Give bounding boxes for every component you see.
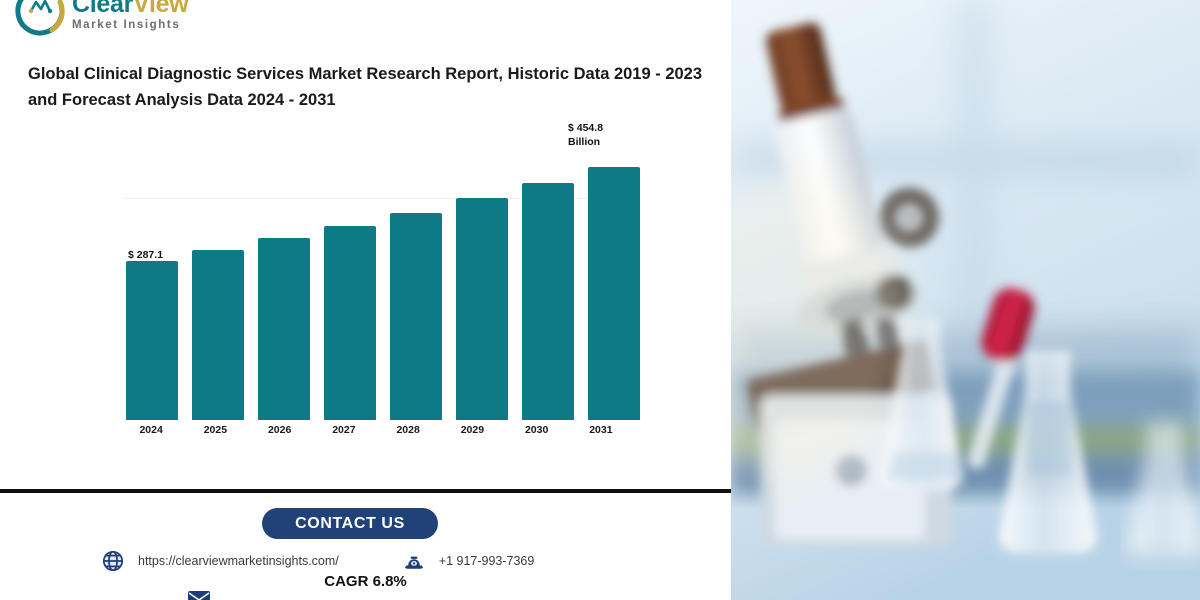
x-label-2030: 2030 (512, 424, 562, 436)
website-item[interactable]: https://clearviewmarketinsights.com/ (100, 548, 339, 574)
x-label-2024: 2024 (126, 424, 176, 436)
bar-2027 (324, 226, 376, 420)
bar-2028 (390, 213, 442, 421)
phone-item[interactable]: +1 917-993-7369 (401, 548, 535, 574)
x-axis (126, 420, 626, 422)
brand-logo[interactable]: ClearView Market Insights (14, 0, 188, 40)
section-divider (0, 489, 731, 493)
globe-icon (100, 548, 126, 574)
contact-us-button[interactable]: CONTACT US (262, 508, 438, 539)
bar-column (324, 118, 376, 420)
bar-2029 (456, 198, 508, 420)
bar-series (126, 118, 626, 420)
bar-2024 (126, 261, 178, 421)
x-label-2027: 2027 (319, 424, 369, 436)
bar-2031 (588, 167, 640, 420)
x-label-2025: 2025 (190, 424, 240, 436)
bar-2026 (258, 238, 310, 420)
bar-column (192, 118, 244, 420)
logo-word-clear: Clear (72, 0, 133, 18)
bar-column (390, 118, 442, 420)
page-title: Global Clinical Diagnostic Services Mark… (28, 62, 718, 113)
cagr-label: CAGR 6.8% (0, 573, 731, 590)
telephone-icon (401, 548, 427, 574)
brand-logo-text: ClearView Market Insights (72, 0, 188, 32)
lab-photo-image (731, 0, 1200, 600)
bar-column (522, 118, 574, 420)
bar-chart: $ 287.1 Billion $ 454.8 Billion 20242025… (0, 118, 731, 458)
lab-photo (731, 0, 1200, 600)
bar-column (126, 118, 178, 420)
x-label-2028: 2028 (383, 424, 433, 436)
x-label-2031: 2031 (576, 424, 626, 436)
phone-number[interactable]: +1 917-993-7369 (439, 554, 535, 568)
chart-plot-area (126, 118, 626, 420)
bar-2030 (522, 183, 574, 420)
clearview-circle-logo-icon (14, 0, 66, 37)
logo-tagline: Market Insights (72, 20, 188, 32)
infographic-root: ClearView Market Insights Global Clinica… (0, 0, 1200, 600)
logo-word-view: View (133, 0, 188, 18)
report-panel: ClearView Market Insights Global Clinica… (0, 0, 731, 600)
bar-column (456, 118, 508, 420)
contact-details: https://clearviewmarketinsights.com/ + (100, 548, 660, 574)
x-axis-labels: 20242025202620272028202920302031 (126, 424, 626, 436)
x-label-2029: 2029 (447, 424, 497, 436)
website-url[interactable]: https://clearviewmarketinsights.com/ (138, 554, 339, 568)
envelope-icon[interactable] (186, 590, 212, 600)
bar-column (258, 118, 310, 420)
x-label-2026: 2026 (255, 424, 305, 436)
bar-2025 (192, 250, 244, 420)
bar-column (588, 118, 640, 420)
